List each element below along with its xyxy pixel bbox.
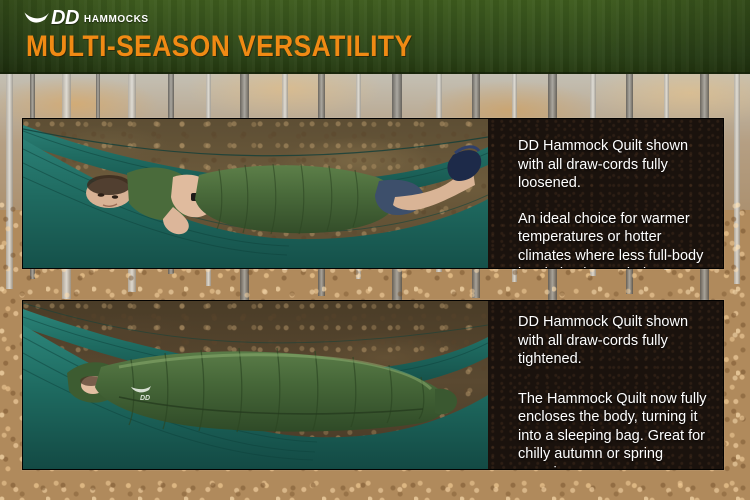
hammock-swoosh-icon	[24, 11, 50, 26]
brand-name-secondary: HAMMOCKS	[84, 7, 149, 30]
page-title: MULTI-SEASON VERSATILITY	[26, 32, 413, 62]
infographic-slide: DD HAMMOCKS MULTI-SEASON VERSATILITY	[0, 0, 750, 500]
svg-text:DD: DD	[140, 395, 150, 402]
caption-line-2: An ideal choice for warmer temperatures …	[518, 210, 715, 270]
brand-logo[interactable]: DD HAMMOCKS	[24, 8, 149, 28]
hammock-illustration-tightened: DD	[23, 301, 488, 469]
panel-loosened: DD Hammock Quilt shown with all draw-cor…	[22, 118, 724, 269]
panel-tightened: DD DD Hammock Quilt shown with all draw-…	[22, 300, 724, 470]
photo-quilt-tightened: DD	[23, 301, 488, 469]
brand-name-primary: DD	[51, 8, 79, 28]
header-band: DD HAMMOCKS MULTI-SEASON VERSATILITY	[0, 0, 750, 74]
caption-loosened: DD Hammock Quilt shown with all draw-cor…	[518, 119, 715, 269]
caption-tightened: DD Hammock Quilt shown with all draw-cor…	[518, 301, 715, 470]
hammock-illustration-loosened	[23, 119, 488, 268]
caption-line-1: DD Hammock Quilt shown with all draw-cor…	[518, 137, 715, 193]
photo-quilt-loosened	[23, 119, 488, 268]
caption-line-1: DD Hammock Quilt shown with all draw-cor…	[518, 313, 715, 369]
caption-line-2: The Hammock Quilt now fully encloses the…	[518, 390, 715, 471]
